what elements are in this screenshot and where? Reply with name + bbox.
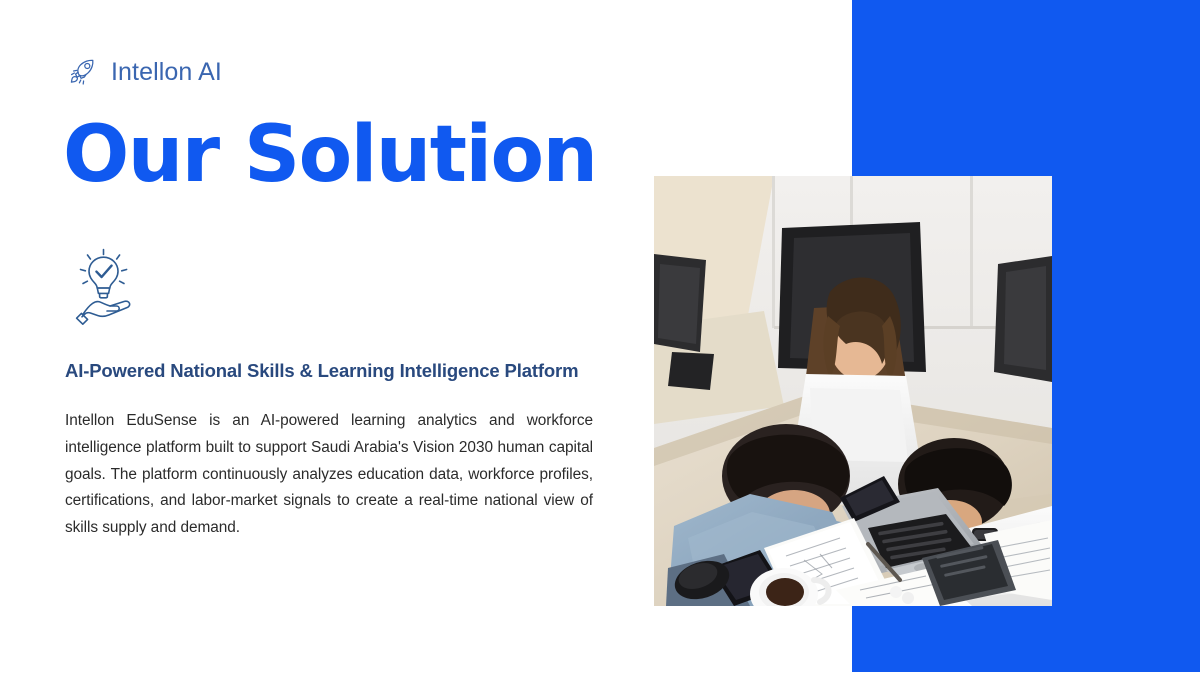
lightbulb-check-in-hand-icon: [63, 243, 151, 331]
rocket-icon: [66, 55, 100, 89]
page-title: Our Solution: [63, 116, 596, 196]
slide-canvas: Intellon AI Our Solution: [0, 0, 1200, 675]
team-collaboration-photo: [654, 176, 1052, 606]
brand-name-label: Intellon AI: [111, 60, 222, 85]
brand-logo: Intellon AI: [66, 52, 222, 92]
feature-text-block: AI-Powered National Skills & Learning In…: [65, 358, 593, 541]
feature-body-paragraph: Intellon EduSense is an AI-powered learn…: [65, 408, 593, 541]
feature-heading: AI-Powered National Skills & Learning In…: [65, 358, 593, 384]
